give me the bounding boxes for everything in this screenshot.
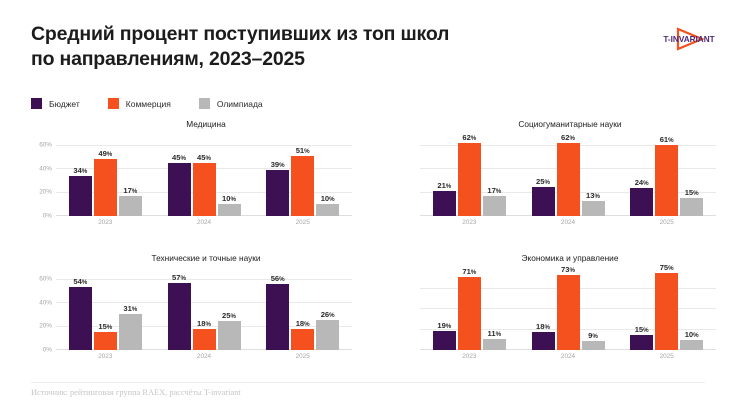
- bar-slot: 45%: [193, 134, 216, 216]
- bar[interactable]: 9%: [582, 341, 605, 350]
- bar-value-label: 24%: [635, 178, 649, 187]
- bar[interactable]: 19%: [433, 331, 456, 350]
- page-title: Средний процент поступивших из топ школ …: [31, 22, 631, 72]
- bar-group: 39%51%10%: [253, 134, 352, 216]
- x-axis-tick-label: 2025: [253, 350, 352, 364]
- bar[interactable]: 25%: [218, 321, 241, 350]
- chart-title: Социогуманитарные науки: [420, 118, 720, 130]
- plot-inner: 0%20%40%60%54%15%31%57%18%25%56%18%26%: [56, 268, 352, 350]
- bar-value-label: 25%: [222, 311, 236, 320]
- bar-value-label: 10%: [222, 194, 236, 203]
- bar-value-label: 11%: [488, 329, 502, 338]
- x-axis-labels: 202320242025: [420, 350, 716, 364]
- y-axis-tick-label: 20%: [39, 323, 52, 330]
- bar-slot: 51%: [291, 134, 314, 216]
- bar-value-label: 18%: [197, 319, 211, 328]
- bar-value-label: 21%: [437, 181, 451, 190]
- bar[interactable]: 24%: [630, 188, 653, 216]
- bar-slot: 49%: [94, 134, 117, 216]
- bar[interactable]: 15%: [630, 335, 653, 350]
- bar-slot: 34%: [69, 134, 92, 216]
- bar-slot: 15%: [630, 268, 653, 350]
- source-note: Источник: рейтинговая группа RAEX, рассч…: [31, 388, 241, 397]
- chart-panel-social-sciences: Социогуманитарные науки 21%62%17%25%62%1…: [390, 118, 720, 244]
- plot-inner: 21%62%17%25%62%13%24%61%15%: [420, 134, 716, 216]
- x-axis-tick-label: 2023: [420, 216, 519, 230]
- bar-slot: 39%: [266, 134, 289, 216]
- bar[interactable]: 56%: [266, 284, 289, 350]
- bar[interactable]: 75%: [655, 273, 678, 350]
- bar-slot: 56%: [266, 268, 289, 350]
- y-axis-tick-label: 40%: [39, 165, 52, 172]
- bar-value-label: 51%: [296, 146, 310, 155]
- bar[interactable]: 62%: [557, 143, 580, 216]
- brand-logo: T-INVARIANT: [650, 24, 728, 56]
- x-axis-tick-label: 2023: [56, 350, 155, 364]
- bar[interactable]: 71%: [458, 277, 481, 350]
- bar-value-label: 62%: [561, 133, 575, 142]
- bar[interactable]: 10%: [316, 204, 339, 216]
- bar-slot: 57%: [168, 268, 191, 350]
- plot-area: 0%20%40%60%34%49%17%45%45%10%39%51%10% 2…: [26, 134, 356, 230]
- bar-value-label: 75%: [660, 263, 674, 272]
- footer-divider: [31, 382, 705, 383]
- bar-group: 24%61%15%: [617, 134, 716, 216]
- bar[interactable]: 11%: [483, 339, 506, 350]
- bar-group: 57%18%25%: [155, 268, 254, 350]
- bar-slot: 24%: [630, 134, 653, 216]
- bar-slot: 75%: [655, 268, 678, 350]
- bar-group: 18%73%9%: [519, 268, 618, 350]
- bar-value-label: 49%: [98, 149, 112, 158]
- legend-item-commerce[interactable]: Коммерция: [108, 98, 171, 109]
- y-axis-tick-label: 40%: [39, 299, 52, 306]
- bar-value-label: 31%: [123, 304, 137, 313]
- x-axis-tick-label: 2023: [56, 216, 155, 230]
- bar-slot: 19%: [433, 268, 456, 350]
- bar[interactable]: 61%: [655, 145, 678, 216]
- bar-slot: 21%: [433, 134, 456, 216]
- bar-value-label: 13%: [586, 191, 600, 200]
- bar-groups: 54%15%31%57%18%25%56%18%26%: [56, 268, 352, 350]
- x-axis-tick-label: 2024: [155, 350, 254, 364]
- chart-panel-medicine: Медицина 0%20%40%60%34%49%17%45%45%10%39…: [26, 118, 356, 244]
- bar-slot: 62%: [557, 134, 580, 216]
- bar-value-label: 61%: [660, 135, 674, 144]
- chart-title: Экономика и управление: [420, 252, 720, 264]
- bar-group: 34%49%17%: [56, 134, 155, 216]
- bar-value-label: 17%: [487, 186, 501, 195]
- bar-value-label: 73%: [561, 265, 575, 274]
- bar[interactable]: 25%: [532, 187, 555, 216]
- plot-area: 21%62%17%25%62%13%24%61%15% 202320242025: [390, 134, 720, 230]
- bar-slot: 61%: [655, 134, 678, 216]
- bar-slot: 71%: [458, 268, 481, 350]
- bar[interactable]: 17%: [483, 196, 506, 216]
- bar-group: 54%15%31%: [56, 268, 155, 350]
- chart-legend: Бюджет Коммерция Олимпиада: [31, 98, 291, 109]
- legend-label-commerce: Коммерция: [126, 99, 171, 109]
- x-axis-labels: 202320242025: [420, 216, 716, 230]
- legend-swatch-olympiad: [199, 98, 210, 109]
- bar-slot: 10%: [218, 134, 241, 216]
- bar-slot: 45%: [168, 134, 191, 216]
- x-axis-tick-label: 2025: [617, 350, 716, 364]
- bar-value-label: 45%: [172, 153, 186, 162]
- bar-slot: 25%: [218, 268, 241, 350]
- chart-title: Медицина: [56, 118, 356, 130]
- bar-slot: 31%: [119, 268, 142, 350]
- bar-value-label: 34%: [73, 166, 87, 175]
- bar-value-label: 62%: [462, 133, 476, 142]
- bar-value-label: 39%: [271, 160, 285, 169]
- bar[interactable]: 18%: [291, 329, 314, 350]
- bar[interactable]: 34%: [69, 176, 92, 216]
- bar-group: 45%45%10%: [155, 134, 254, 216]
- bar-value-label: 45%: [197, 153, 211, 162]
- bar-value-label: 71%: [462, 267, 476, 276]
- x-axis-tick-label: 2025: [253, 216, 352, 230]
- bar[interactable]: 15%: [94, 332, 117, 350]
- header: Средний процент поступивших из топ школ …: [31, 22, 631, 72]
- bar-slot: 25%: [532, 134, 555, 216]
- y-axis-tick-label: 60%: [39, 275, 52, 282]
- bar[interactable]: 31%: [119, 314, 142, 350]
- x-axis-labels: 202320242025: [56, 350, 352, 364]
- y-axis-tick-label: 20%: [39, 189, 52, 196]
- bar[interactable]: 54%: [69, 287, 92, 350]
- chart-panel-technical-sciences: Технические и точные науки 0%20%40%60%54…: [26, 252, 356, 378]
- bar-slot: 17%: [119, 134, 142, 216]
- bar[interactable]: 45%: [168, 163, 191, 216]
- bar-slot: 10%: [680, 268, 703, 350]
- y-axis-tick-label: 0%: [43, 213, 52, 220]
- legend-swatch-budget: [31, 98, 42, 109]
- bar-value-label: 19%: [437, 321, 451, 330]
- bar[interactable]: 18%: [532, 332, 555, 350]
- bar-value-label: 57%: [172, 273, 186, 282]
- bar-value-label: 10%: [685, 330, 699, 339]
- x-axis-tick-label: 2024: [155, 216, 254, 230]
- y-axis-tick-label: 60%: [39, 141, 52, 148]
- bar-value-label: 56%: [271, 274, 285, 283]
- x-axis-tick-label: 2023: [420, 350, 519, 364]
- bar[interactable]: 17%: [119, 196, 142, 216]
- legend-label-olympiad: Олимпиада: [217, 99, 263, 109]
- chart-grid: Медицина 0%20%40%60%34%49%17%45%45%10%39…: [0, 118, 736, 376]
- bar[interactable]: 73%: [557, 275, 580, 350]
- bar-value-label: 54%: [73, 277, 87, 286]
- bar-groups: 21%62%17%25%62%13%24%61%15%: [420, 134, 716, 216]
- bar[interactable]: 10%: [680, 340, 703, 350]
- legend-swatch-commerce: [108, 98, 119, 109]
- bar[interactable]: 51%: [291, 156, 314, 216]
- bar-slot: 26%: [316, 268, 339, 350]
- plot-inner: 19%71%11%18%73%9%15%75%10%: [420, 268, 716, 350]
- legend-label-budget: Бюджет: [49, 99, 80, 109]
- bar-groups: 19%71%11%18%73%9%15%75%10%: [420, 268, 716, 350]
- x-axis-tick-label: 2024: [519, 350, 618, 364]
- x-axis-labels: 202320242025: [56, 216, 352, 230]
- bar-slot: 11%: [483, 268, 506, 350]
- bar-slot: 9%: [582, 268, 605, 350]
- bar[interactable]: 18%: [193, 329, 216, 350]
- x-axis-tick-label: 2025: [617, 216, 716, 230]
- bar[interactable]: 57%: [168, 283, 191, 350]
- bar-group: 21%62%17%: [420, 134, 519, 216]
- bar-value-label: 25%: [536, 177, 550, 186]
- legend-item-budget[interactable]: Бюджет: [31, 98, 80, 109]
- bar-slot: 54%: [69, 268, 92, 350]
- bar-slot: 62%: [458, 134, 481, 216]
- bar-value-label: 15%: [635, 325, 649, 334]
- y-axis-tick-label: 0%: [43, 347, 52, 354]
- bar-groups: 34%49%17%45%45%10%39%51%10%: [56, 134, 352, 216]
- chart-panel-economics: Экономика и управление 19%71%11%18%73%9%…: [390, 252, 720, 378]
- legend-item-olympiad[interactable]: Олимпиада: [199, 98, 263, 109]
- chart-title: Технические и точные науки: [56, 252, 356, 264]
- plot-inner: 0%20%40%60%34%49%17%45%45%10%39%51%10%: [56, 134, 352, 216]
- bar-value-label: 17%: [123, 186, 137, 195]
- bar-value-label: 26%: [321, 310, 335, 319]
- plot-area: 0%20%40%60%54%15%31%57%18%25%56%18%26% 2…: [26, 268, 356, 364]
- bar[interactable]: 21%: [433, 191, 456, 216]
- bar-group: 56%18%26%: [253, 268, 352, 350]
- bar-slot: 18%: [291, 268, 314, 350]
- bar-slot: 15%: [680, 134, 703, 216]
- logo-wordmark: T-INVARIANT: [663, 35, 714, 44]
- bar[interactable]: 26%: [316, 320, 339, 350]
- bar[interactable]: 62%: [458, 143, 481, 216]
- bar-slot: 73%: [557, 268, 580, 350]
- bar[interactable]: 13%: [582, 201, 605, 216]
- bar[interactable]: 49%: [94, 159, 117, 216]
- bar-value-label: 9%: [588, 331, 598, 340]
- bar-group: 25%62%13%: [519, 134, 618, 216]
- bar-value-label: 10%: [321, 194, 335, 203]
- bar[interactable]: 15%: [680, 198, 703, 216]
- bar[interactable]: 39%: [266, 170, 289, 216]
- bar-slot: 18%: [193, 268, 216, 350]
- bar[interactable]: 45%: [193, 163, 216, 216]
- bar-slot: 17%: [483, 134, 506, 216]
- bar-group: 15%75%10%: [617, 268, 716, 350]
- bar-value-label: 18%: [296, 319, 310, 328]
- bar-slot: 10%: [316, 134, 339, 216]
- bar-slot: 15%: [94, 268, 117, 350]
- plot-area: 19%71%11%18%73%9%15%75%10% 202320242025: [390, 268, 720, 364]
- bar-slot: 13%: [582, 134, 605, 216]
- x-axis-tick-label: 2024: [519, 216, 618, 230]
- bar-value-label: 18%: [536, 322, 550, 331]
- bar-value-label: 15%: [685, 188, 699, 197]
- bar[interactable]: 10%: [218, 204, 241, 216]
- bar-value-label: 15%: [98, 322, 112, 331]
- bar-group: 19%71%11%: [420, 268, 519, 350]
- bar-slot: 18%: [532, 268, 555, 350]
